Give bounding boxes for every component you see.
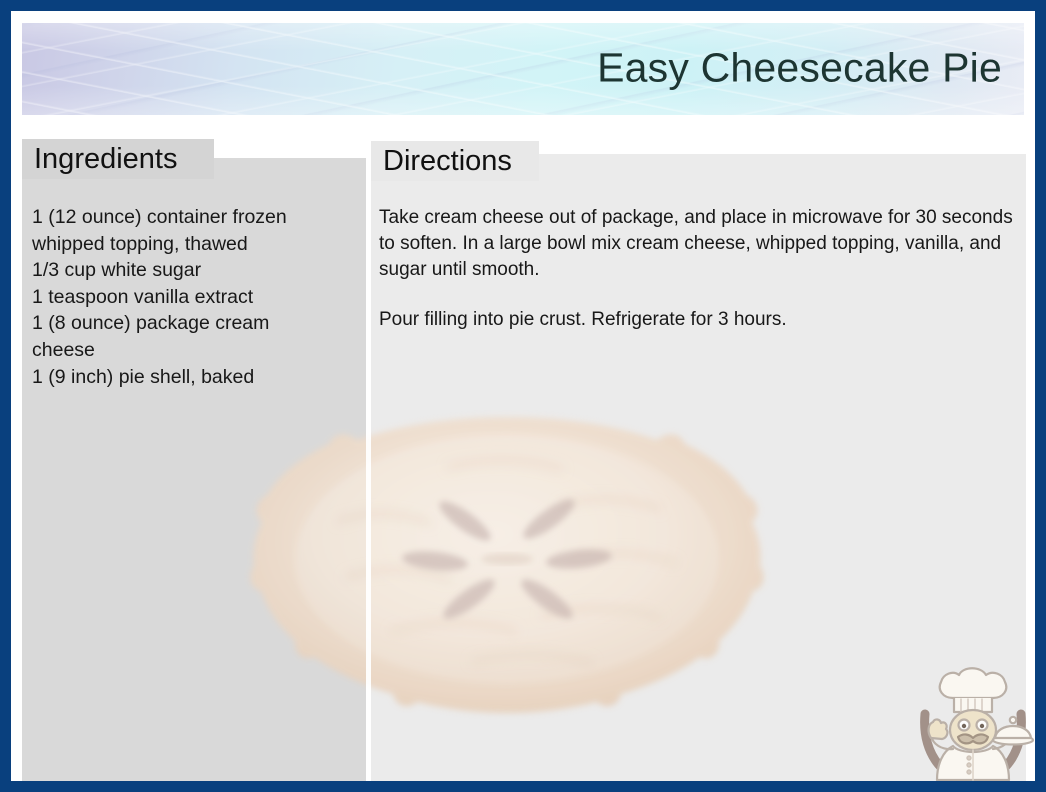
slide-inner: Easy Cheesecake Pie xyxy=(11,11,1035,781)
list-item: 1 (8 ounce) package cream cheese xyxy=(32,310,332,363)
directions-paragraph: Pour filling into pie crust. Refrigerate… xyxy=(379,307,1015,333)
directions-text: Take cream cheese out of package, and pl… xyxy=(379,205,1015,333)
ingredients-heading-chip: Ingredients xyxy=(22,139,214,179)
recipe-slide: Easy Cheesecake Pie xyxy=(0,0,1046,792)
directions-heading: Directions xyxy=(383,147,512,176)
pie-illustration xyxy=(243,409,771,739)
list-item: 1 (12 ounce) container frozen whipped to… xyxy=(32,204,332,257)
ingredients-heading: Ingredients xyxy=(34,145,178,174)
title-banner: Easy Cheesecake Pie xyxy=(22,23,1024,115)
directions-heading-chip: Directions xyxy=(371,141,539,181)
list-item: 1 teaspoon vanilla extract xyxy=(32,284,332,311)
panel-gutter xyxy=(366,139,371,781)
chef-logo xyxy=(909,654,1035,781)
list-item: 1 (9 inch) pie shell, baked xyxy=(32,364,332,391)
ingredients-list: 1 (12 ounce) container frozen whipped to… xyxy=(32,204,332,390)
page-title: Easy Cheesecake Pie xyxy=(597,48,1002,89)
directions-paragraph: Take cream cheese out of package, and pl… xyxy=(379,205,1015,283)
list-item: 1/3 cup white sugar xyxy=(32,257,332,284)
